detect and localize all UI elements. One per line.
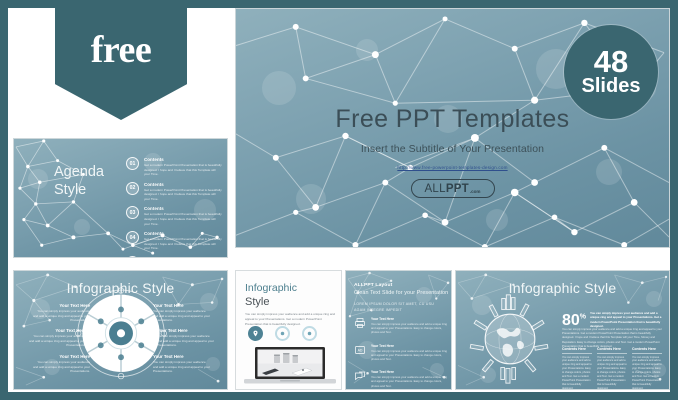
layout-slide-heading: ALLPPT Layout	[354, 283, 392, 288]
wheel-label-heading: Your Text Here	[32, 354, 90, 359]
layout-slide-row: Your Text Here You can simply impress yo…	[354, 317, 449, 335]
svg-text:AD: AD	[358, 348, 363, 352]
globe-column: Contents Here You can simply impress you…	[632, 347, 662, 390]
laptop-slide-title-line2: Style	[245, 296, 269, 308]
wheel-label-heading: Your Text Here	[157, 328, 215, 333]
agenda-item-number: 03	[126, 206, 139, 219]
percent-symbol: %	[580, 314, 586, 321]
agenda-item-number: 01	[126, 157, 139, 170]
layout-slide-row: Your Text Here You can simply impress yo…	[354, 370, 449, 388]
agenda-item: 01 Contents Get a modern PowerPoint Pres…	[126, 157, 222, 177]
globe-column-body: You can simply impress your audience and…	[562, 356, 592, 391]
globe-column-body: You can simply impress your audience and…	[597, 356, 627, 391]
wheel-label-body: You can simply impress your audience and…	[153, 360, 211, 373]
agenda-item-number: 04	[126, 231, 139, 244]
agenda-item-body: Get a modern PowerPoint Presentation tha…	[144, 188, 222, 202]
agenda-title-line1: Agenda	[54, 163, 104, 181]
agenda-title: Agenda Style	[54, 163, 104, 199]
wheel-label-heading: Your Text Here	[32, 303, 90, 308]
globe-column-heading: Contents Here	[632, 347, 662, 354]
globe-infographic-slide[interactable]: Infographic Style	[455, 270, 670, 390]
slide-count-unit: Slides	[582, 76, 641, 97]
layout-slide-row-list: Your Text Here You can simply impress yo…	[354, 317, 449, 390]
agenda-title-line2: Style	[54, 181, 104, 199]
globe-column: Contents Here You can simply impress you…	[562, 347, 592, 390]
wheel-label-body: You can simply impress your audience and…	[32, 309, 90, 322]
laptop-slide-body: You can simply impress your audience and…	[245, 312, 337, 326]
preview-frame: Free PPT Templates Insert the Subtitle o…	[0, 0, 678, 400]
agenda-item: 02 Contents Get a modern PowerPoint Pres…	[126, 182, 222, 202]
globe-percent-subtext: You can simply impress your audience and…	[562, 327, 662, 348]
globe-column-heading: Contents Here	[562, 347, 592, 354]
slide-count-badge: 48 Slides	[564, 25, 658, 119]
allppt-logo: ALL PPT .com	[411, 179, 495, 198]
agenda-item-heading: Contents	[144, 206, 222, 211]
layout-row-body: You can simply impress your audience and…	[371, 322, 449, 335]
wheel-label: Your Text Here You can simply impress yo…	[28, 328, 86, 348]
preview-inner: Free PPT Templates Insert the Subtitle o…	[8, 8, 670, 392]
wheel-label-heading: Your Text Here	[28, 328, 86, 333]
layout-row-heading: Your Text Here	[371, 317, 449, 321]
globe-columns: Contents Here You can simply impress you…	[562, 347, 664, 390]
wheel-label: Your Text Here You can simply impress yo…	[153, 354, 211, 374]
free-ribbon: free	[55, 8, 187, 120]
globe-column-heading: Contents Here	[597, 347, 627, 354]
wheel-label-heading: Your Text Here	[153, 354, 211, 359]
layout-slide-subheading: Clean Text Slide for your Presentation	[354, 290, 448, 296]
logo-text-all: ALL	[424, 183, 445, 195]
layout-row-heading: Your Text Here	[371, 344, 449, 348]
laptop-slide-title-line1: Infographic	[245, 282, 297, 294]
wheel-label: Your Text Here You can simply impress yo…	[153, 303, 211, 323]
layout-row-body: You can simply impress your audience and…	[371, 349, 449, 362]
agenda-item-heading: Contents	[144, 157, 222, 162]
agenda-item-number: 02	[126, 182, 139, 195]
hero-text-block: Free PPT Templates Insert the Subtitle o…	[236, 105, 669, 198]
circle-outline-icon	[302, 326, 317, 341]
wheel-label: Your Text Here You can simply impress yo…	[32, 354, 90, 374]
logo-text-com: .com	[470, 189, 481, 194]
globe-column-body: You can simply impress your audience and…	[632, 356, 662, 391]
wheel-infographic-slide[interactable]: Infographic Style	[13, 270, 228, 390]
agenda-item-number: 05	[126, 256, 139, 258]
agenda-item-body: Get a modern PowerPoint Presentation tha…	[144, 237, 222, 251]
laptop-slide[interactable]: Infographic Style You can simply impress…	[235, 270, 342, 390]
wheel-label-body: You can simply impress your audience and…	[28, 334, 86, 347]
logo-text-ppt: PPT	[446, 183, 469, 195]
hero-url-link[interactable]: http://www.free-powerpoint-templates-des…	[236, 165, 669, 170]
globe-percent-text: You can simply impress your audience and…	[590, 311, 662, 328]
agenda-item-body: Get a modern PowerPoint Presentation tha…	[144, 163, 222, 177]
agenda-item-heading: Contents	[144, 231, 222, 236]
agenda-item-body: Get a modern PowerPoint Presentation tha…	[144, 212, 222, 226]
agenda-item: 05 Contents Get a modern PowerPoint Pres…	[126, 256, 222, 258]
layout-row-heading: Your Text Here	[371, 370, 449, 374]
agenda-item-list: 01 Contents Get a modern PowerPoint Pres…	[126, 157, 222, 258]
layout-row-body: You can simply impress your audience and…	[371, 375, 449, 388]
wheel-label: Your Text Here You can simply impress yo…	[157, 328, 215, 348]
printer-icon	[354, 317, 366, 329]
wheel-label-body: You can simply impress your audience and…	[157, 334, 215, 347]
hero-subtitle: Insert the Subtitle of Your Presentation	[236, 143, 669, 155]
agenda-item: 03 Contents Get a modern PowerPoint Pres…	[126, 206, 222, 226]
slide-count-number: 48	[594, 47, 628, 76]
wheel-label: Your Text Here You can simply impress yo…	[32, 303, 90, 323]
wheel-label-body: You can simply impress your audience and…	[32, 360, 90, 373]
circle-outline-icon	[275, 326, 290, 341]
chat-icon	[354, 370, 366, 382]
laptop-slide-icon-row	[248, 326, 317, 341]
free-ribbon-label: free	[91, 28, 152, 72]
wheel-label-heading: Your Text Here	[153, 303, 211, 308]
location-pin-icon	[248, 326, 263, 341]
layout-slide-row: AD Your Text Here You can simply impress…	[354, 344, 449, 362]
ad-icon: AD	[354, 344, 366, 356]
agenda-item-heading: Contents	[144, 256, 222, 258]
layout-slide-caps-text: LOREM IPSUM DOLOR SIT AMET, CU USU AGAM …	[354, 301, 446, 313]
agenda-item-heading: Contents	[144, 182, 222, 187]
wheel-label-body: You can simply impress your audience and…	[153, 309, 211, 322]
globe-city-icon	[464, 293, 556, 390]
globe-column: Contents Here You can simply impress you…	[597, 347, 627, 390]
agenda-slide[interactable]: Agenda Style 01 Contents Get a modern Po…	[13, 138, 228, 258]
agenda-item: 04 Contents Get a modern PowerPoint Pres…	[126, 231, 222, 251]
laptop-photo	[244, 347, 336, 390]
layout-slide[interactable]: ALLPPT Layout Clean Text Slide for your …	[345, 270, 452, 390]
